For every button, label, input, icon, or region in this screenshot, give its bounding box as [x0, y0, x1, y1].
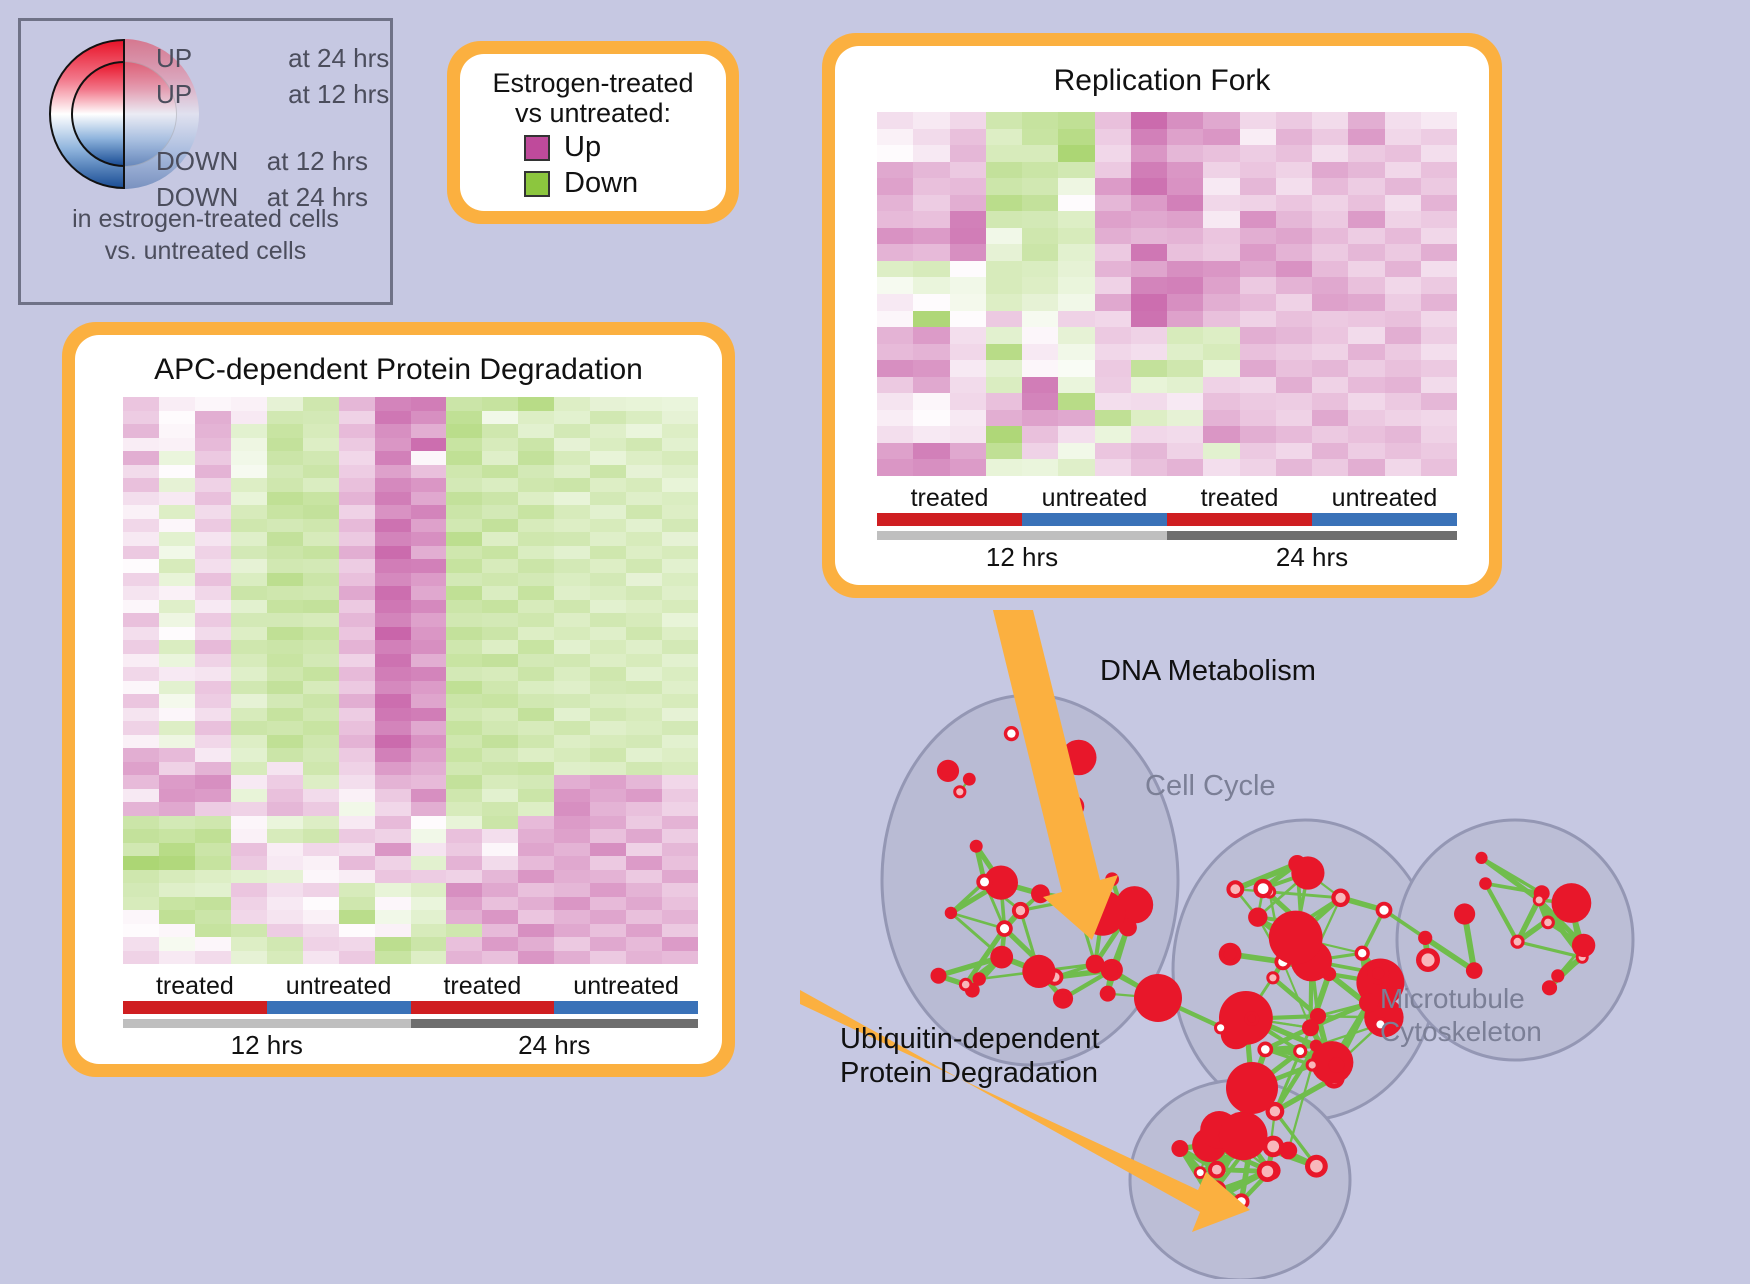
heatmap-cell	[339, 627, 375, 641]
heatmap-cell	[339, 573, 375, 587]
heatmap-cell	[1203, 277, 1239, 294]
heatmap-cell	[1240, 294, 1276, 311]
heatmap-cell	[1385, 360, 1421, 377]
key-direction: UP	[156, 79, 192, 109]
network-node[interactable]	[1329, 1057, 1345, 1073]
heatmap-cell	[662, 897, 698, 911]
heatmap-cell	[1095, 195, 1131, 212]
heatmap-cell	[159, 424, 195, 438]
heatmap-cell	[554, 802, 590, 816]
network-node[interactable]	[931, 968, 947, 984]
network-node[interactable]	[990, 946, 1013, 969]
key-row-down-12: DOWN at 12 hrs	[156, 146, 368, 177]
heatmap-cell	[662, 492, 698, 506]
heatmap-cell	[662, 721, 698, 735]
network-node[interactable]	[1269, 911, 1323, 965]
heatmap-cell	[626, 532, 662, 546]
heatmap-cell	[590, 640, 626, 654]
heatmap-cell	[1385, 311, 1421, 328]
network-node[interactable]	[1418, 931, 1432, 945]
up-label: Up	[564, 131, 601, 164]
heatmap-cell	[986, 277, 1022, 294]
heatmap-cell	[518, 667, 554, 681]
network-node[interactable]	[1416, 948, 1440, 972]
panel-replication-fork: Replication Fork treateduntreatedtreated…	[822, 33, 1502, 598]
heatmap-cell	[554, 424, 590, 438]
network-node[interactable]	[970, 840, 983, 853]
heatmap-cell	[913, 294, 949, 311]
network-node[interactable]	[1291, 856, 1324, 889]
heatmap-cell	[590, 816, 626, 830]
heatmap-cell	[1421, 443, 1457, 460]
heatmap-cell	[1312, 195, 1348, 212]
heatmap-cell	[195, 397, 231, 411]
heatmap-cell	[590, 870, 626, 884]
heatmap-cell	[375, 600, 411, 614]
heatmap-cell	[877, 112, 913, 129]
heatmap-cell	[231, 519, 267, 533]
heatmap-cell	[411, 924, 447, 938]
heatmap-cell	[877, 360, 913, 377]
cluster-label-ubiquitin-line1: Ubiquitin-dependent	[840, 1022, 1100, 1056]
heatmap-cell	[1312, 393, 1348, 410]
heatmap-cell	[950, 228, 986, 245]
network-node[interactable]	[1293, 1044, 1307, 1058]
heatmap-cell	[1348, 294, 1384, 311]
heatmap-cell	[1167, 277, 1203, 294]
heatmap-cell	[1095, 112, 1131, 129]
heatmap-cell	[446, 667, 482, 681]
heatmap-cell	[267, 937, 303, 951]
network-node[interactable]	[1355, 946, 1370, 961]
network-node[interactable]	[1012, 902, 1029, 919]
network-node[interactable]	[1100, 986, 1116, 1002]
time-labels-replication-fork: 12 hrs24 hrs	[877, 542, 1457, 573]
condition-label: treated	[411, 972, 555, 1001]
heatmap-cell	[1385, 178, 1421, 195]
network-node[interactable]	[1208, 1161, 1226, 1179]
heatmap-cell	[590, 451, 626, 465]
heatmap-cell	[1167, 228, 1203, 245]
heatmap-cell	[662, 627, 698, 641]
heatmap-cell	[482, 883, 518, 897]
heatmap-cell	[626, 505, 662, 519]
heatmap-cell	[590, 897, 626, 911]
network-node[interactable]	[1022, 955, 1055, 988]
network-node[interactable]	[1253, 879, 1272, 898]
heatmap-cell	[123, 654, 159, 668]
network-node[interactable]	[996, 920, 1013, 937]
network-node[interactable]	[1359, 993, 1378, 1012]
network-node[interactable]	[1214, 1021, 1227, 1034]
heatmap-cell	[662, 573, 698, 587]
heatmap-cell	[1167, 162, 1203, 179]
heatmap-cell	[662, 937, 698, 951]
heatmap-cell	[339, 883, 375, 897]
apc-axis: treateduntreatedtreateduntreated 12 hrs2…	[123, 972, 698, 1061]
heatmap-cell	[231, 883, 267, 897]
heatmap-cell	[1312, 145, 1348, 162]
heatmap-cell	[554, 397, 590, 411]
heatmap-cell	[518, 519, 554, 533]
heatmap-cell	[1348, 277, 1384, 294]
heatmap-cell	[375, 708, 411, 722]
heatmap-cell	[1276, 145, 1312, 162]
heatmap-cell	[159, 694, 195, 708]
heatmap-cell	[662, 438, 698, 452]
heatmap-cell	[303, 762, 339, 776]
heatmap-cell	[1131, 294, 1167, 311]
heatmap-cell	[375, 640, 411, 654]
heatmap-cell	[411, 789, 447, 803]
heatmap-cell	[662, 600, 698, 614]
heatmap-cell	[446, 613, 482, 627]
network-node[interactable]	[1331, 889, 1350, 908]
heatmap-cell	[267, 897, 303, 911]
heatmap-cell	[626, 910, 662, 924]
heatmap-cell	[554, 910, 590, 924]
heatmap-cell	[662, 397, 698, 411]
heatmap-cell	[662, 640, 698, 654]
heatmap-cell	[913, 178, 949, 195]
heatmap-cell	[267, 735, 303, 749]
heatmap-cell	[411, 816, 447, 830]
heatmap-cell	[231, 451, 267, 465]
heatmap-cell	[123, 600, 159, 614]
heatmap-cell	[482, 856, 518, 870]
heatmap-cell	[375, 627, 411, 641]
heatmap-cell	[1240, 377, 1276, 394]
heatmap-cell	[482, 816, 518, 830]
heatmap-cell	[195, 627, 231, 641]
heatmap-cell	[913, 244, 949, 261]
heatmap-cell	[877, 393, 913, 410]
heatmap-cell	[554, 789, 590, 803]
heatmap-cell	[626, 721, 662, 735]
heatmap-cell	[1167, 178, 1203, 195]
network-node[interactable]	[1226, 880, 1244, 898]
network-node[interactable]	[1266, 971, 1279, 984]
heatmap-cell	[1022, 112, 1058, 129]
heatmap-cell	[195, 735, 231, 749]
heatmap-cell	[159, 789, 195, 803]
heatmap-cell	[1131, 377, 1167, 394]
network-node[interactable]	[1226, 1062, 1278, 1114]
heatmap-cell	[1131, 344, 1167, 361]
heatmap-cell	[303, 816, 339, 830]
network-node[interactable]	[1101, 959, 1123, 981]
heatmap-cell	[446, 951, 482, 965]
heatmap-cell	[267, 748, 303, 762]
heatmap-cell	[1095, 327, 1131, 344]
heatmap-cell	[195, 694, 231, 708]
heatmap-cell	[554, 681, 590, 695]
heatmap-cell	[482, 613, 518, 627]
heatmap-cell	[267, 505, 303, 519]
network-node[interactable]	[1541, 916, 1555, 930]
heatmap-cell	[123, 856, 159, 870]
network-node[interactable]	[1479, 877, 1492, 890]
heatmap-cell	[159, 870, 195, 884]
heatmap-cell	[303, 559, 339, 573]
legend-item-down: Down	[524, 167, 710, 200]
heatmap-cell	[339, 654, 375, 668]
heatmap-cell	[267, 721, 303, 735]
heatmap-cell	[195, 532, 231, 546]
network-node[interactable]	[963, 773, 976, 786]
heatmap-cell	[446, 438, 482, 452]
network-node[interactable]	[1244, 1011, 1259, 1026]
heatmap-cell	[411, 600, 447, 614]
network-node[interactable]	[1004, 726, 1019, 741]
heatmap-cell	[1421, 459, 1457, 476]
heatmap-cell	[1131, 145, 1167, 162]
heatmap-cell	[482, 951, 518, 965]
heatmap-cell	[375, 735, 411, 749]
heatmap-cell	[482, 897, 518, 911]
heatmap-cell	[986, 459, 1022, 476]
heatmap-cell	[339, 667, 375, 681]
network-node[interactable]	[937, 760, 959, 782]
network-node[interactable]	[1171, 1140, 1188, 1157]
heatmap-cell	[303, 505, 339, 519]
heatmap-cell	[950, 459, 986, 476]
heatmap-cell	[518, 600, 554, 614]
heatmap-cell	[590, 492, 626, 506]
heatmap-cell	[411, 451, 447, 465]
heatmap-cell	[1022, 344, 1058, 361]
network-node[interactable]	[1475, 852, 1487, 864]
heatmap-cell	[411, 627, 447, 641]
heatmap-cell	[1203, 410, 1239, 427]
heatmap-cell	[1348, 129, 1384, 146]
heatmap-cell	[159, 438, 195, 452]
heatmap-cell	[446, 856, 482, 870]
heatmap-cell	[950, 327, 986, 344]
heatmap-cell	[518, 586, 554, 600]
heatmap-cell	[913, 443, 949, 460]
heatmap-cell	[950, 344, 986, 361]
network-node[interactable]	[945, 907, 957, 919]
heatmap-cell	[231, 573, 267, 587]
heatmap-cell	[1058, 129, 1094, 146]
heatmap-cell	[1022, 311, 1058, 328]
network-node[interactable]	[1572, 934, 1595, 957]
time-label: 24 hrs	[411, 1030, 699, 1061]
heatmap-cell	[267, 843, 303, 857]
network-node[interactable]	[1376, 902, 1393, 919]
heatmap-cell	[1312, 178, 1348, 195]
heatmap-cell	[446, 627, 482, 641]
heatmap-cell	[1276, 294, 1312, 311]
heatmap-cell	[267, 654, 303, 668]
heatmap-cell	[195, 681, 231, 695]
heatmap-cell	[411, 897, 447, 911]
heatmap-cell	[267, 438, 303, 452]
network-node[interactable]	[1302, 1019, 1319, 1036]
heatmap-cell	[446, 546, 482, 560]
heatmap-cell	[662, 708, 698, 722]
network-node[interactable]	[1306, 1058, 1319, 1071]
heatmap-cell	[195, 411, 231, 425]
heatmap-cell	[950, 261, 986, 278]
heatmap-cell	[518, 951, 554, 965]
panel-title-apc: APC-dependent Protein Degradation	[75, 335, 722, 387]
heatmap-cell	[662, 694, 698, 708]
heatmap-cell	[662, 559, 698, 573]
heatmap-cell	[1022, 294, 1058, 311]
cluster-label-dna-metabolism: DNA Metabolism	[1100, 655, 1316, 688]
heatmap-cell	[1421, 426, 1457, 443]
heatmap-cell	[195, 816, 231, 830]
heatmap-cell	[1058, 195, 1094, 212]
network-node[interactable]	[1454, 903, 1475, 924]
heatmap-cell	[590, 775, 626, 789]
network-node[interactable]	[1542, 980, 1557, 995]
heatmap-cell	[159, 843, 195, 857]
heatmap-cell	[303, 951, 339, 965]
heatmap-cell	[375, 856, 411, 870]
heatmap-cell	[877, 261, 913, 278]
heatmap-cell	[339, 600, 375, 614]
heatmap-cell	[1131, 244, 1167, 261]
heatmap-cell	[411, 532, 447, 546]
heatmap-cell	[986, 145, 1022, 162]
heatmap-cell	[339, 613, 375, 627]
heatmap-cell	[1203, 327, 1239, 344]
network-node[interactable]	[973, 972, 986, 985]
network-node[interactable]	[1510, 935, 1524, 949]
heatmap-cell	[195, 829, 231, 843]
heatmap-cell	[411, 708, 447, 722]
key-direction: DOWN	[156, 146, 238, 176]
heatmap-cell	[590, 762, 626, 776]
network-node[interactable]	[959, 978, 973, 992]
network-node[interactable]	[1552, 883, 1592, 923]
heatmap-cell	[267, 910, 303, 924]
heatmap-cell	[1421, 129, 1457, 146]
heatmap-cell	[590, 910, 626, 924]
heatmap-cell	[626, 681, 662, 695]
condition-label: untreated	[267, 972, 411, 1001]
network-node[interactable]	[1533, 894, 1546, 907]
network-node[interactable]	[1305, 1155, 1328, 1178]
heatmap-cell	[446, 465, 482, 479]
heatmap-cell	[231, 708, 267, 722]
heatmap-cell	[1240, 277, 1276, 294]
heatmap-cell	[303, 573, 339, 587]
heatmap-cell	[662, 613, 698, 627]
heatmap-cell	[267, 640, 303, 654]
condition-label: treated	[877, 484, 1022, 513]
heatmap-cell	[159, 667, 195, 681]
heatmap-cell	[1058, 112, 1094, 129]
heatmap-cell	[1276, 377, 1312, 394]
heatmap-cell	[195, 951, 231, 965]
heatmap-cell	[1095, 178, 1131, 195]
heatmap-cell	[303, 411, 339, 425]
heatmap-cell	[590, 856, 626, 870]
heatmap-cell	[195, 721, 231, 735]
heatmap-cell	[267, 856, 303, 870]
heatmap-cell	[554, 924, 590, 938]
heatmap-cell	[446, 937, 482, 951]
heatmap-cell	[1131, 129, 1167, 146]
heatmap-cell	[554, 829, 590, 843]
heatmap-cell	[1095, 162, 1131, 179]
heatmap-cell	[626, 411, 662, 425]
network-node[interactable]	[1134, 974, 1182, 1022]
heatmap-cell	[339, 465, 375, 479]
heatmap-cell	[1421, 377, 1457, 394]
heatmap-cell	[662, 775, 698, 789]
panel-replication-fork-inner: Replication Fork treateduntreatedtreated…	[835, 46, 1489, 585]
heatmap-cell	[303, 789, 339, 803]
heatmap-cell	[877, 410, 913, 427]
heatmap-cell	[375, 411, 411, 425]
heatmap-cell	[950, 211, 986, 228]
network-node[interactable]	[1257, 1161, 1278, 1182]
network-node[interactable]	[976, 874, 992, 890]
heatmap-cell	[123, 573, 159, 587]
network-node[interactable]	[1466, 962, 1483, 979]
heatmap-cell	[1131, 211, 1167, 228]
heatmap-cell	[554, 897, 590, 911]
heatmap-cell	[231, 586, 267, 600]
network-node[interactable]	[1219, 943, 1242, 966]
heatmap-cell	[913, 162, 949, 179]
heatmap-cell	[554, 870, 590, 884]
network-node[interactable]	[953, 785, 966, 798]
heatmap-cell	[590, 424, 626, 438]
network-node[interactable]	[1551, 969, 1564, 982]
heatmap-cell	[1348, 360, 1384, 377]
heatmap-cell	[339, 735, 375, 749]
heatmap-cell	[1240, 228, 1276, 245]
network-node[interactable]	[1219, 1112, 1268, 1161]
heatmap-cell	[1131, 195, 1167, 212]
heatmap-cell	[1240, 410, 1276, 427]
heatmap-cell	[626, 492, 662, 506]
heatmap-cell	[411, 397, 447, 411]
heatmap-cell	[1058, 294, 1094, 311]
heatmap-cell	[877, 294, 913, 311]
heatmap-cell	[231, 478, 267, 492]
heatmap-cell	[1312, 211, 1348, 228]
heatmap-cell	[877, 145, 913, 162]
heatmap-cell	[590, 532, 626, 546]
heatmap-cell	[375, 586, 411, 600]
heatmap-cell	[339, 492, 375, 506]
heatmap-cell	[554, 856, 590, 870]
heatmap-cell	[1421, 211, 1457, 228]
heatmap-cell	[1095, 443, 1131, 460]
heatmap-cell	[1095, 426, 1131, 443]
time-labels-apc: 12 hrs24 hrs	[123, 1030, 698, 1061]
network-node[interactable]	[1053, 989, 1073, 1009]
heatmap-cell	[267, 546, 303, 560]
heatmap-cell	[231, 924, 267, 938]
heatmap-cell	[1312, 244, 1348, 261]
network-node[interactable]	[1248, 908, 1267, 927]
heatmap-cell	[913, 211, 949, 228]
network-node[interactable]	[1367, 962, 1389, 984]
heatmap-cell	[1276, 426, 1312, 443]
heatmap-cell	[303, 775, 339, 789]
network-node[interactable]	[1257, 1042, 1273, 1058]
heatmap-cell	[950, 162, 986, 179]
heatmap-cell	[123, 721, 159, 735]
